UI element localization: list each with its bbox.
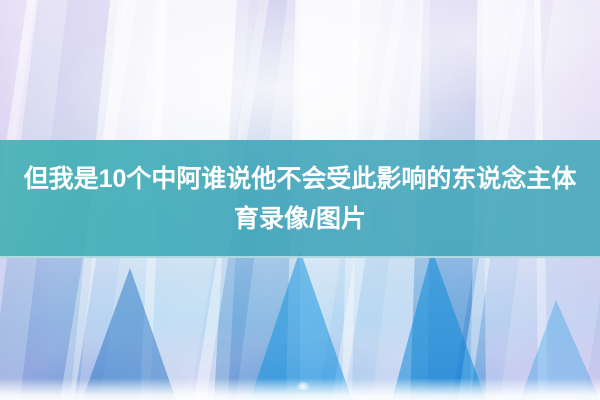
caption-line-1: 但我是10个中阿谁说他不会受此影响的东说念主体 <box>24 159 577 199</box>
caption-line-2: 育录像/图片 <box>234 199 366 239</box>
bottom-watermark-speck <box>296 381 310 390</box>
caption-overlay-band: 但我是10个中阿谁说他不会受此影响的东说念主体 育录像/图片 <box>0 140 600 258</box>
banner-image: 但我是10个中阿谁说他不会受此影响的东说念主体 育录像/图片 <box>0 0 600 400</box>
